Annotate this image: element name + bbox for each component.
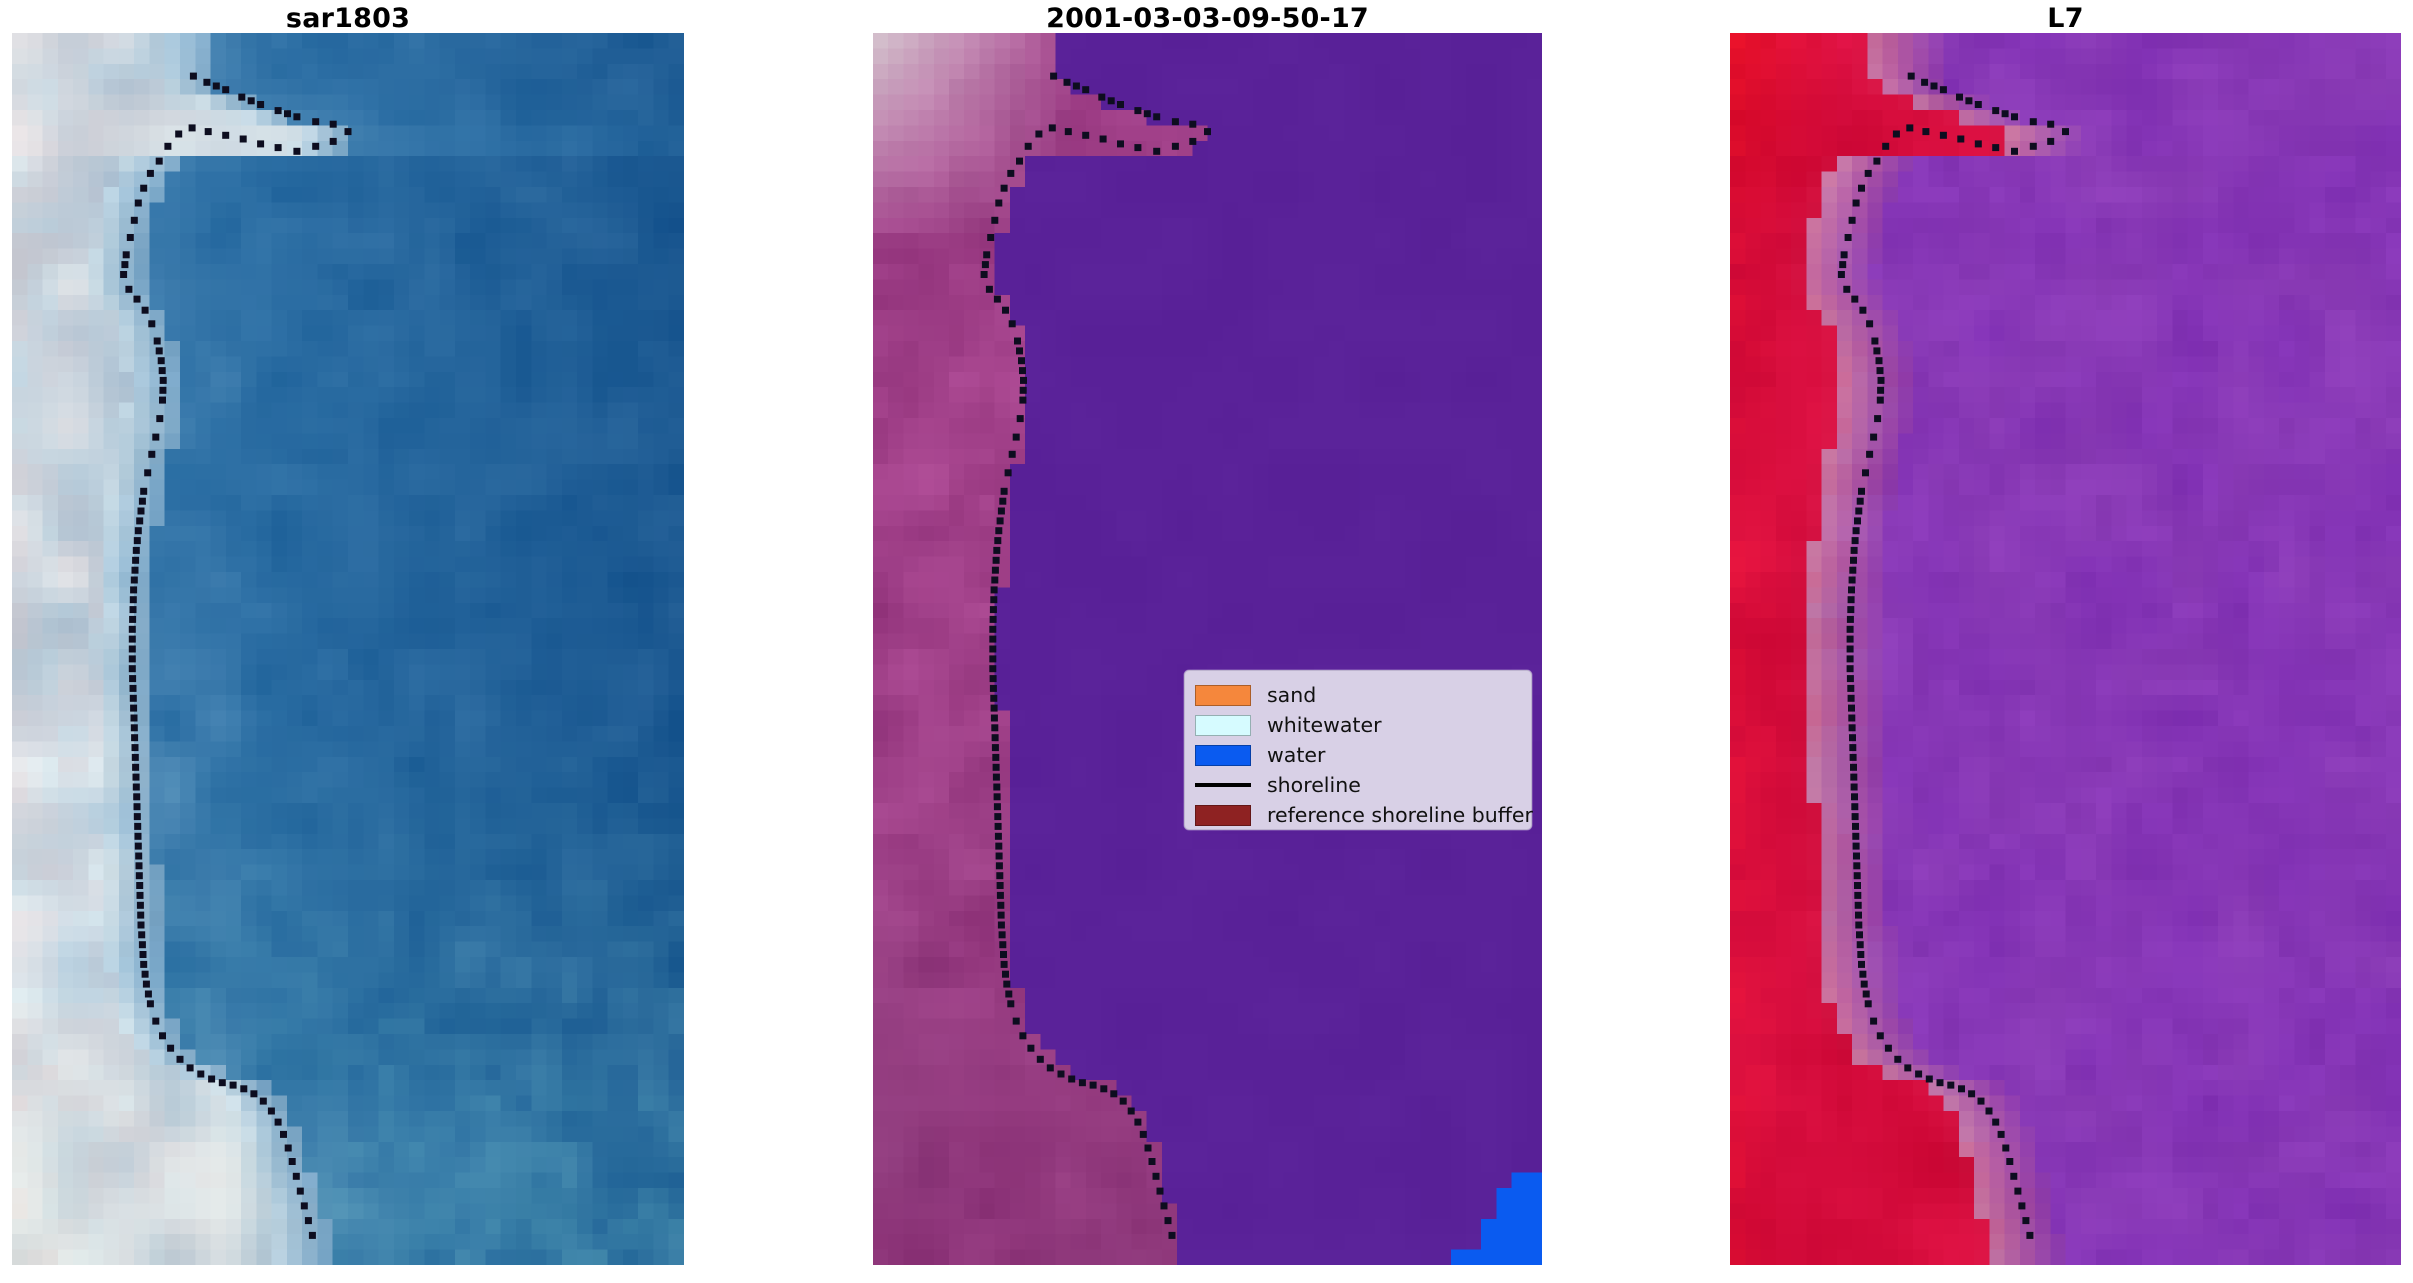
panel-l7-image <box>1730 33 2401 1265</box>
legend-row-sand: sand <box>1195 680 1519 710</box>
shoreline-line-icon <box>1195 783 1251 787</box>
panel-sar1803-image <box>12 33 684 1265</box>
legend-color-swatch-reference-shoreline-buffer <box>1195 805 1251 826</box>
legend-row-reference-shoreline-buffer: reference shoreline buffer <box>1195 800 1519 830</box>
panel-classified <box>873 33 1542 1265</box>
legend-label: reference shoreline buffer <box>1267 803 1533 827</box>
legend-color-swatch-water <box>1195 745 1251 766</box>
legend-label: water <box>1267 743 1325 767</box>
panel-sar1803-title: sar1803 <box>12 2 684 36</box>
panel-l7-title: L7 <box>1730 2 2401 36</box>
legend-label: sand <box>1267 683 1316 707</box>
figure-root: sar1803 2001-03-03-09-50-17 L7 sandwhite… <box>0 0 2413 1283</box>
legend-row-shoreline: shoreline <box>1195 770 1519 800</box>
legend-line-swatch-shoreline <box>1195 775 1251 796</box>
panel-classified-image <box>873 33 1542 1265</box>
legend-color-swatch-sand <box>1195 685 1251 706</box>
panel-classified-title: 2001-03-03-09-50-17 <box>873 2 1542 36</box>
panel-sar1803 <box>12 33 684 1265</box>
legend: sandwhitewaterwatershorelinereference sh… <box>1184 670 1532 830</box>
panel-l7 <box>1730 33 2401 1265</box>
legend-row-whitewater: whitewater <box>1195 710 1519 740</box>
legend-label: whitewater <box>1267 713 1382 737</box>
legend-row-water: water <box>1195 740 1519 770</box>
legend-color-swatch-whitewater <box>1195 715 1251 736</box>
legend-label: shoreline <box>1267 773 1361 797</box>
